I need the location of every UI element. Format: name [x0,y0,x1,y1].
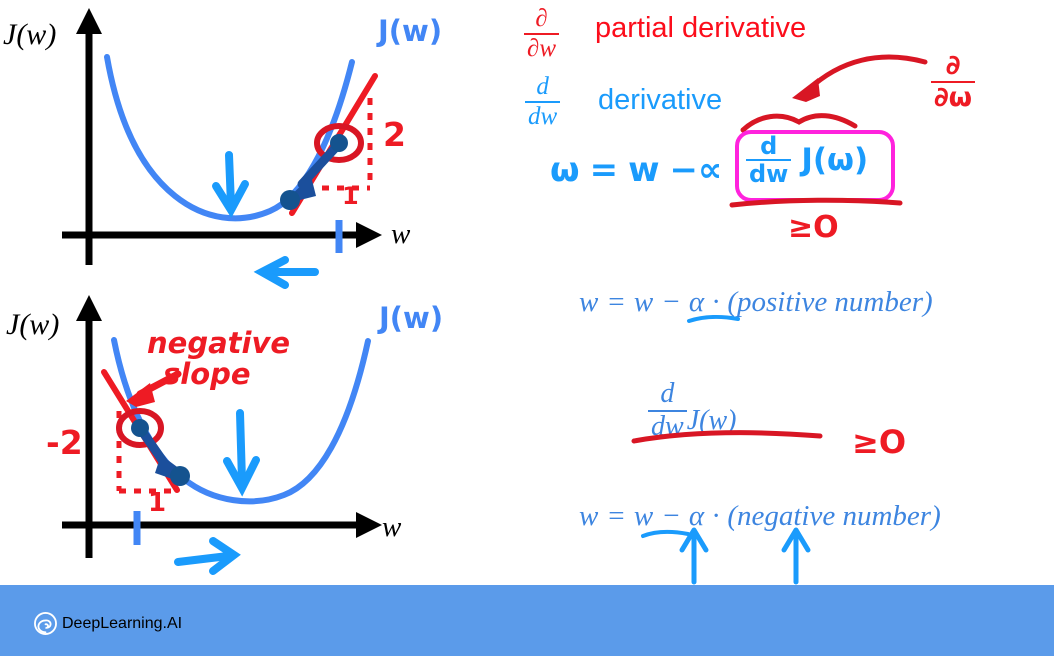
positive-eq-minus: − [661,286,681,319]
positive-alpha-underline [686,314,746,326]
partial-derivative-numerator: ∂ [524,6,559,32]
top-chart-step-direction-arrow [262,260,315,285]
top-chart-run-label: 1 [342,182,359,210]
derivative-expression-numerator: d [648,380,687,409]
bottom-chart-rise-label: -2 [46,423,83,462]
notes-panel: ∂ ∂w partial derivative d dw derivative … [500,0,1054,585]
boxed-derivative-fraction: d dw [746,134,791,187]
callout-line-2: slope [163,359,290,390]
top-chart: J(w) w J(w) 2 1 [0,0,500,290]
bottom-chart-y-axis-label: J(w) [6,308,59,342]
update-rule-nonnegative-note: ≥O [788,210,839,245]
slide-canvas: J(w) w J(w) 2 1 [0,0,1054,656]
boxed-derivative-term: d dw J(ω) [746,134,868,187]
minus-sign-pointer-arrow [675,524,715,586]
update-rule-equals: = [590,150,619,190]
bottom-chart-next-point [170,466,190,486]
derivative-label: derivative [598,84,722,117]
negative-eq-w-lhs: w [579,500,598,533]
negative-update-equation: w = w − α · (negative number) [579,500,941,533]
derivative-numerator: d [525,74,560,100]
boxed-derivative-numerator: d [746,134,791,158]
negative-term-pointer-arrow [777,524,817,586]
bottom-chart-run-label: 1 [148,488,166,518]
derivative-nonnegative-note: ≥O [852,423,906,461]
boxed-derivative-function: J(ω) [801,142,868,178]
brand-name: DeepLearning.AI [62,615,182,633]
negative-eq-term: (negative number) [727,500,940,533]
update-rule-w: w [628,150,659,190]
deeplearning-spiral-icon [34,612,57,635]
top-chart-next-point [280,190,300,210]
top-chart-x-axis-label: w [391,218,410,251]
update-rule-lhs: ω [550,150,580,190]
top-chart-rise-label: 2 [383,115,406,154]
positive-update-equation: w = w − α · (positive number) [579,286,933,319]
bottom-chart-step-direction-arrow [178,541,234,571]
update-rule-minus-alpha: −∝ [669,150,722,190]
derivative-fraction: d dw [525,74,560,129]
top-chart-minimum-arrow [216,155,245,210]
partial-derivative-label: partial derivative [595,12,806,45]
partial-derivative-fraction: ∂ ∂w [524,6,559,61]
positive-eq-term: (positive number) [727,286,932,319]
handwritten-update-rule: ω = w −∝ [550,150,722,190]
callout-line-1: negative [147,328,290,359]
positive-eq-w-rhs: w [634,286,653,319]
bottom-chart-x-axis-label: w [382,511,401,544]
positive-eq-w-lhs: w [579,286,598,319]
bottom-chart-curve-label: J(w) [379,301,443,335]
derivative-expression-underline [630,430,830,446]
brand-logo: DeepLearning.AI [34,612,182,635]
bottom-chart: J(w) w J(w) -2 1 negative slope [0,283,500,583]
top-chart-curve-label: J(w) [378,14,442,48]
bottom-chart-current-point [131,419,149,437]
boxed-derivative-denominator: dw [746,162,791,186]
negative-eq-equals: = [606,500,626,533]
top-chart-current-point [330,134,348,152]
positive-eq-equals: = [606,286,626,319]
bottom-chart-negative-slope-callout: negative slope [147,328,290,391]
partial-derivative-denominator: ∂w [524,36,559,62]
derivative-denominator: dw [525,104,560,130]
top-chart-y-axis-label: J(w) [3,18,56,52]
bottom-chart-minimum-arrow [227,413,256,488]
